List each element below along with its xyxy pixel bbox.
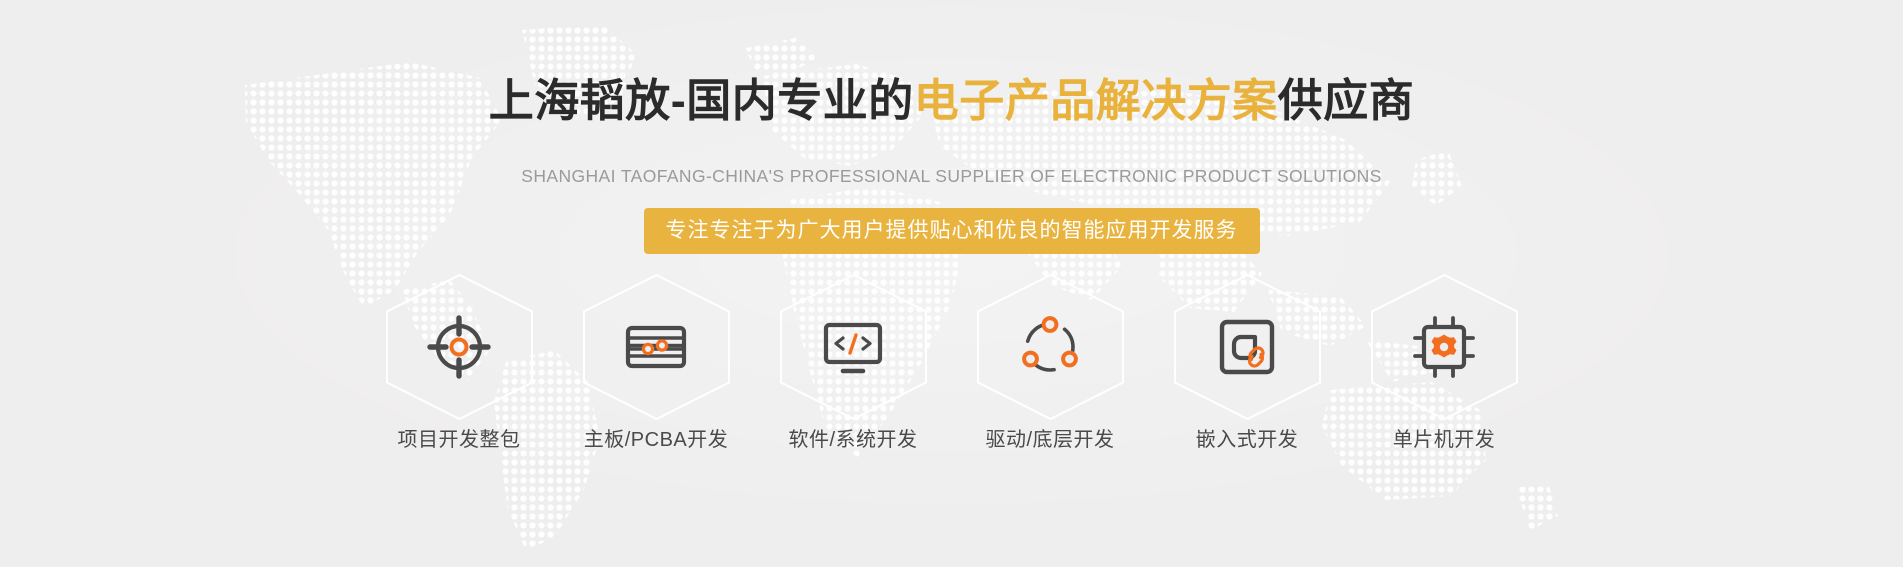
service-label: 驱动/底层开发: [985, 430, 1114, 450]
hero-banner: 上海韬放-国内专业的电子产品解决方案供应商 SHANGHAI TAOFANG-C…: [0, 0, 1903, 567]
page-title: 上海韬放-国内专业的电子产品解决方案供应商: [489, 78, 1415, 123]
hexagon-frame: [1366, 272, 1523, 422]
subtitle-english: SHANGHAI TAOFANG-CHINA'S PROFESSIONAL SU…: [521, 168, 1381, 186]
headline-part-1: 上海韬放-国内专业的: [489, 75, 914, 126]
service-item-mcu[interactable]: 单片机开发: [1366, 272, 1523, 450]
service-item-embedded[interactable]: 嵌入式开发: [1169, 272, 1326, 450]
service-label: 主板/PCBA开发: [584, 430, 729, 450]
circuit-board-icon: [620, 311, 692, 383]
microchip-gear-icon: [1408, 311, 1480, 383]
headline-part-2: 供应商: [1278, 75, 1415, 126]
service-list: 项目开发整包: [381, 272, 1523, 450]
service-label: 嵌入式开发: [1196, 430, 1299, 450]
tagline-badge: 专注专注于为广大用户提供贴心和优良的智能应用开发服务: [644, 208, 1260, 254]
hexagon-frame: [381, 272, 538, 422]
embedded-link-icon: [1211, 311, 1283, 383]
hexagon-frame: [578, 272, 735, 422]
crosshair-target-icon: [423, 311, 495, 383]
service-label: 单片机开发: [1393, 430, 1496, 450]
hexagon-frame: [775, 272, 932, 422]
service-item-software[interactable]: 软件/系统开发: [775, 272, 932, 450]
service-item-project-package[interactable]: 项目开发整包: [381, 272, 538, 450]
headline-accent: 电子产品解决方案: [914, 75, 1278, 126]
monitor-code-icon: [817, 311, 889, 383]
hero-content: 上海韬放-国内专业的电子产品解决方案供应商 SHANGHAI TAOFANG-C…: [0, 0, 1903, 567]
network-nodes-icon: [1014, 311, 1086, 383]
service-label: 软件/系统开发: [788, 430, 917, 450]
hexagon-frame: [1169, 272, 1326, 422]
service-item-pcba[interactable]: 主板/PCBA开发: [578, 272, 735, 450]
service-item-driver[interactable]: 驱动/底层开发: [972, 272, 1129, 450]
service-label: 项目开发整包: [398, 430, 521, 450]
hexagon-frame: [972, 272, 1129, 422]
